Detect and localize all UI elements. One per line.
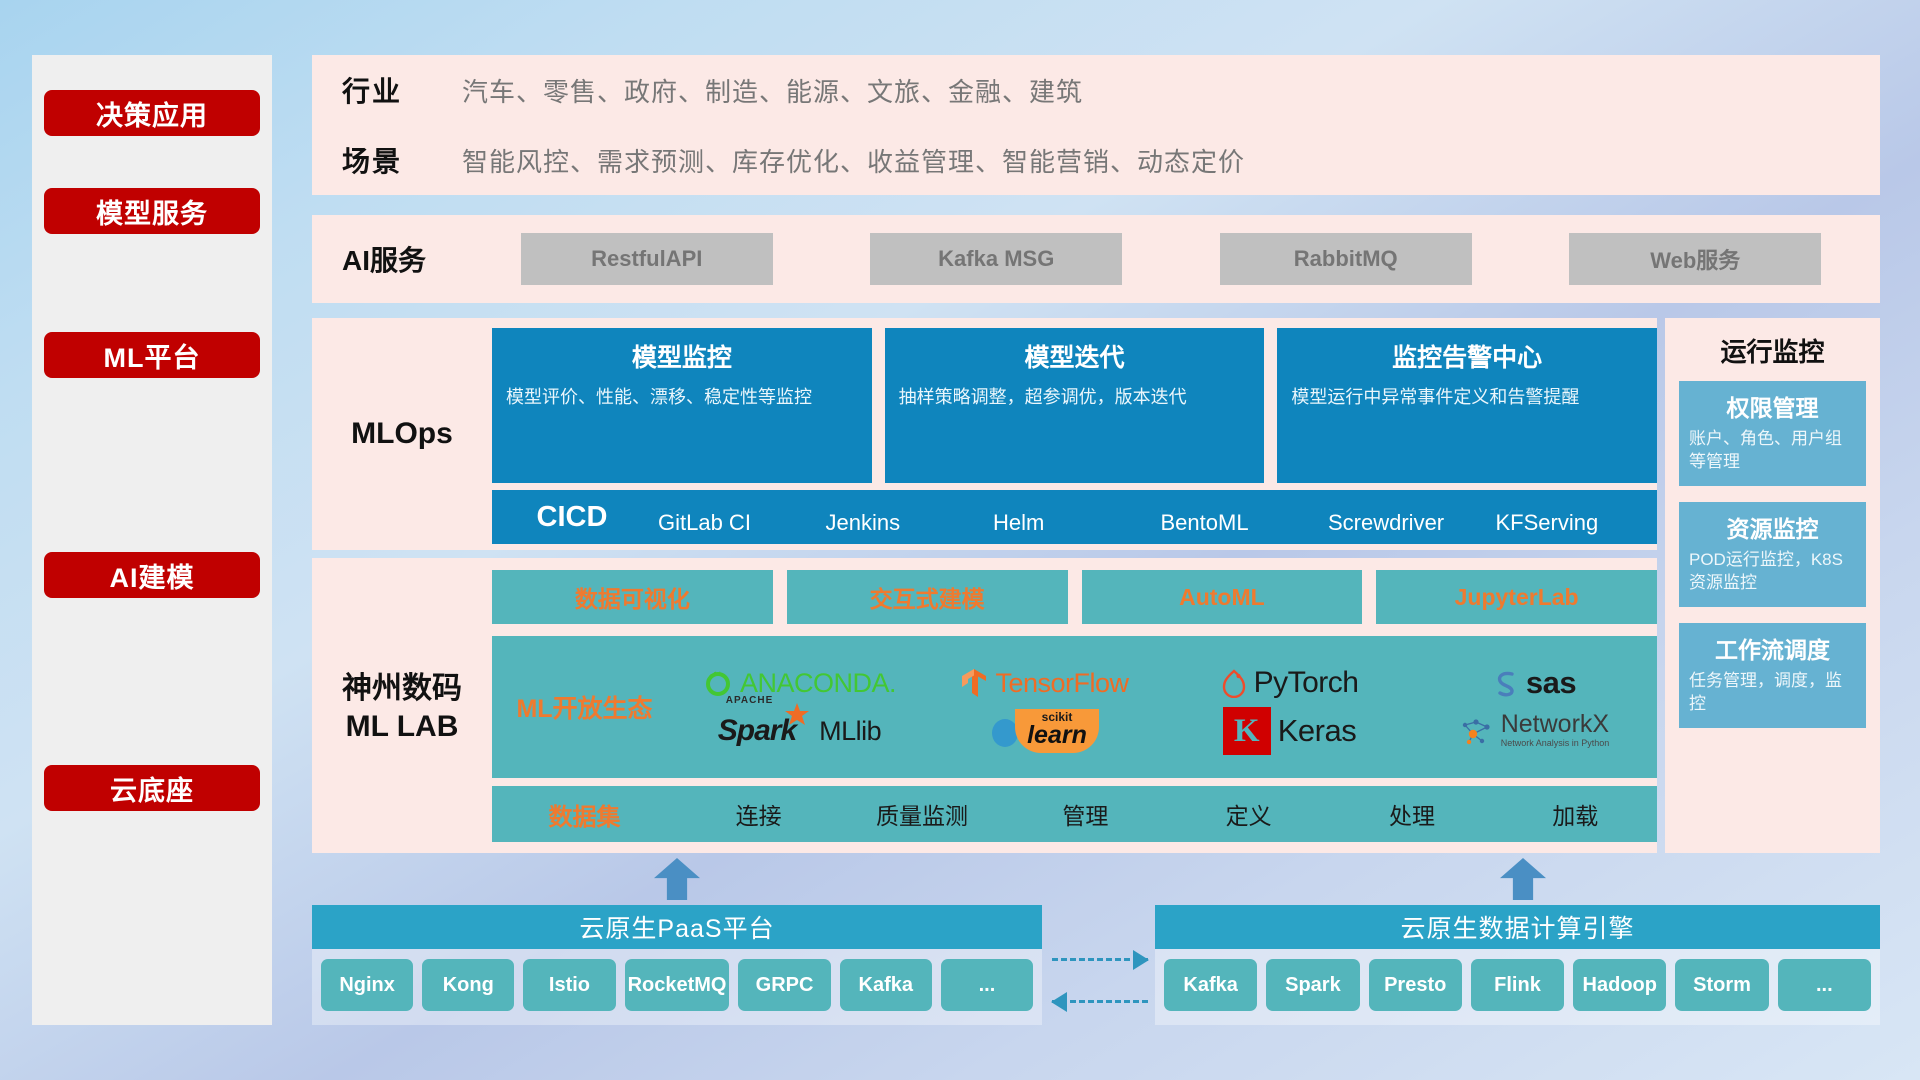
- paas-chip-nginx[interactable]: Nginx: [321, 959, 413, 1011]
- dataset-label: 数据集: [492, 797, 677, 832]
- dataset-item-manage[interactable]: 管理: [1004, 797, 1167, 831]
- arrow-up-paas-icon: [654, 858, 700, 900]
- dataset-item-define[interactable]: 定义: [1167, 797, 1330, 831]
- monitor-card-permissions[interactable]: 权限管理 账户、角色、用户组等管理: [1679, 381, 1866, 486]
- card-title: 模型监控: [506, 338, 858, 374]
- mlops-label: MLOps: [312, 318, 492, 550]
- ai-service-panel: AI服务 RestfulAPI Kafka MSG RabbitMQ Web服务: [312, 215, 1880, 303]
- compute-chip-flink[interactable]: Flink: [1471, 959, 1564, 1011]
- compute-chip-more[interactable]: ...: [1778, 959, 1871, 1011]
- paas-platform-box: 云原生PaaS平台 Nginx Kong Istio RocketMQ GRPC…: [312, 905, 1042, 1025]
- learn-text: learn: [1027, 723, 1087, 748]
- industry-scenario-panel: 行业 汽车、零售、政府、制造、能源、文旅、金融、建筑 场景 智能风控、需求预测、…: [312, 55, 1880, 195]
- card-title: 监控告警中心: [1291, 338, 1643, 374]
- stage-chip-ml-platform[interactable]: ML平台: [44, 332, 260, 378]
- dataset-item-load[interactable]: 加载: [1494, 797, 1657, 831]
- mlops-card-group: 模型监控 模型评价、性能、漂移、稳定性等监控 模型迭代 抽样策略调整，超参调优，…: [492, 328, 1657, 483]
- ml-lab-label: 神州数码 ML LAB: [312, 558, 492, 853]
- stage-chip-ai-modeling[interactable]: AI建模: [44, 552, 260, 598]
- cicd-item-kfserving[interactable]: KFServing: [1490, 511, 1658, 535]
- tab-jupyterlab[interactable]: JupyterLab: [1376, 570, 1657, 624]
- paas-chip-group: Nginx Kong Istio RocketMQ GRPC Kafka ...: [312, 949, 1042, 1021]
- compute-chip-storm[interactable]: Storm: [1675, 959, 1768, 1011]
- logo-networkx-subtitle: Network Analysis in Python: [1501, 737, 1610, 750]
- paas-chip-more[interactable]: ...: [941, 959, 1033, 1011]
- card-desc: 抽样策略调整，超参调优，版本迭代: [899, 384, 1251, 410]
- card-title: 工作流调度: [1689, 631, 1856, 665]
- stage-chip-cloud-base[interactable]: 云底座: [44, 765, 260, 811]
- compute-chip-presto[interactable]: Presto: [1369, 959, 1462, 1011]
- mlops-card-model-monitoring[interactable]: 模型监控 模型评价、性能、漂移、稳定性等监控: [492, 328, 872, 483]
- monitor-card-resources[interactable]: 资源监控 POD运行监控，K8S资源监控: [1679, 502, 1866, 607]
- mlops-card-alert-center[interactable]: 监控告警中心 模型运行中异常事件定义和告警提醒: [1277, 328, 1657, 483]
- paas-platform-title: 云原生PaaS平台: [312, 905, 1042, 949]
- keras-icon: K: [1223, 707, 1271, 755]
- cicd-item-helm[interactable]: Helm: [987, 511, 1155, 535]
- compute-chip-kafka[interactable]: Kafka: [1164, 959, 1257, 1011]
- paas-chip-kafka[interactable]: Kafka: [840, 959, 932, 1011]
- runtime-monitoring-title: 运行监控: [1665, 318, 1880, 381]
- card-title: 模型迭代: [899, 338, 1251, 374]
- logo-sas: sas: [1412, 665, 1657, 701]
- tensorflow-icon: [960, 667, 988, 699]
- card-desc: 模型运行中异常事件定义和告警提醒: [1291, 384, 1643, 410]
- paas-chip-kong[interactable]: Kong: [422, 959, 514, 1011]
- logo-pytorch: PyTorch: [1167, 666, 1412, 700]
- compute-chip-group: Kafka Spark Presto Flink Hadoop Storm ..…: [1155, 949, 1880, 1021]
- logo-mllib-text: MLlib: [819, 716, 881, 747]
- cicd-item-jenkins[interactable]: Jenkins: [820, 511, 988, 535]
- card-desc: 账户、角色、用户组等管理: [1689, 428, 1856, 474]
- scenario-values: 智能风控、需求预测、库存优化、收益管理、智能营销、动态定价: [462, 142, 1245, 179]
- cicd-item-gitlab-ci[interactable]: GitLab CI: [652, 511, 820, 535]
- compute-chip-spark[interactable]: Spark: [1266, 959, 1359, 1011]
- mlops-panel: MLOps 模型监控 模型评价、性能、漂移、稳定性等监控 模型迭代 抽样策略调整…: [312, 318, 1657, 550]
- arrow-up-compute-icon: [1500, 858, 1546, 900]
- logo-tensorflow: TensorFlow: [922, 667, 1167, 699]
- logo-anaconda: ANACONDA.: [677, 668, 922, 699]
- ml-lab-line1: 神州数码: [312, 670, 492, 708]
- data-compute-engine-box: 云原生数据计算引擎 Kafka Spark Presto Flink Hadoo…: [1155, 905, 1880, 1025]
- ml-ecosystem-row: ML开放生态 ANACONDA. TensorFlow: [492, 636, 1657, 778]
- card-title: 资源监控: [1689, 510, 1856, 544]
- logo-anaconda-text: ANACONDA.: [740, 668, 896, 699]
- cicd-bar: CICD GitLab CI Jenkins Helm BentoML Scre…: [492, 490, 1657, 544]
- ai-service-chip-group: RestfulAPI Kafka MSG RabbitMQ Web服务: [462, 233, 1880, 285]
- pytorch-icon: [1221, 668, 1247, 698]
- spark-apache-text: APACHE: [726, 695, 773, 706]
- ai-service-label: AI服务: [342, 239, 462, 279]
- dataset-item-group: 连接 质量监测 管理 定义 处理 加载: [677, 797, 1657, 831]
- stage-chip-decision[interactable]: 决策应用: [44, 90, 260, 136]
- card-desc: 任务管理，调度，监控: [1689, 670, 1856, 716]
- logo-tensorflow-text: TensorFlow: [995, 668, 1128, 699]
- dataset-item-connect[interactable]: 连接: [677, 797, 840, 831]
- ml-ecosystem-label: ML开放生态: [492, 689, 677, 725]
- ai-modeling-panel: 神州数码 ML LAB 数据可视化 交互式建模 AutoML JupyterLa…: [312, 558, 1657, 853]
- dashed-arrow-right-icon: [1052, 958, 1148, 961]
- cicd-item-bentoml[interactable]: BentoML: [1155, 511, 1323, 535]
- modeling-tab-group: 数据可视化 交互式建模 AutoML JupyterLab: [492, 570, 1657, 624]
- stage-rail: 决策应用 模型服务 ML平台 AI建模 云底座: [32, 55, 272, 1025]
- card-desc: 模型评价、性能、漂移、稳定性等监控: [506, 384, 858, 410]
- scenario-row: 场景 智能风控、需求预测、库存优化、收益管理、智能营销、动态定价: [312, 125, 1880, 195]
- scikit-learn-badge: scikit learn: [1015, 709, 1099, 753]
- logo-networkx: NetworkX Network Analysis in Python: [1412, 712, 1657, 750]
- cicd-title: CICD: [492, 501, 652, 534]
- networkx-icon: [1460, 716, 1494, 746]
- tab-interactive-modeling[interactable]: 交互式建模: [787, 570, 1068, 624]
- cicd-item-group: GitLab CI Jenkins Helm BentoML Screwdriv…: [652, 499, 1657, 535]
- architecture-diagram: 决策应用 模型服务 ML平台 AI建模 云底座 行业 汽车、零售、政府、制造、能…: [0, 0, 1920, 1080]
- logo-spark-mllib: APACHE Spark MLlib: [677, 714, 922, 748]
- tab-automl[interactable]: AutoML: [1082, 570, 1363, 624]
- dashed-arrow-left-icon: [1052, 1000, 1148, 1003]
- mlops-card-model-iteration[interactable]: 模型迭代 抽样策略调整，超参调优，版本迭代: [885, 328, 1265, 483]
- card-title: 权限管理: [1689, 389, 1856, 423]
- ai-chip-web-service[interactable]: Web服务: [1569, 233, 1821, 285]
- data-compute-engine-title: 云原生数据计算引擎: [1155, 905, 1880, 949]
- industry-row: 行业 汽车、零售、政府、制造、能源、文旅、金融、建筑: [312, 55, 1880, 125]
- logo-keras: K Keras: [1167, 707, 1412, 755]
- dataset-item-quality[interactable]: 质量监测: [840, 797, 1003, 831]
- stage-chip-model-service[interactable]: 模型服务: [44, 188, 260, 234]
- anaconda-icon: [703, 668, 733, 698]
- dataset-row: 数据集 连接 质量监测 管理 定义 处理 加载: [492, 786, 1657, 842]
- paas-chip-grpc[interactable]: GRPC: [738, 959, 830, 1011]
- cicd-item-screwdriver[interactable]: Screwdriver: [1322, 511, 1490, 535]
- spark-star-icon: [784, 702, 810, 728]
- scenario-label: 场景: [342, 140, 462, 180]
- runtime-monitoring-panel: 运行监控 权限管理 账户、角色、用户组等管理 资源监控 POD运行监控，K8S资…: [1665, 318, 1880, 853]
- ai-chip-restfulapi[interactable]: RestfulAPI: [521, 233, 773, 285]
- logo-networkx-text: NetworkX: [1501, 712, 1609, 737]
- ai-chip-rabbitmq[interactable]: RabbitMQ: [1220, 233, 1472, 285]
- ai-chip-kafka-msg[interactable]: Kafka MSG: [870, 233, 1122, 285]
- logo-pytorch-text: PyTorch: [1254, 666, 1359, 700]
- ml-ecosystem-logo-group: ANACONDA. TensorFlow PyTorch: [677, 659, 1657, 755]
- logo-keras-text: Keras: [1278, 713, 1356, 749]
- paas-chip-istio[interactable]: Istio: [523, 959, 615, 1011]
- industry-values: 汽车、零售、政府、制造、能源、文旅、金融、建筑: [462, 72, 1083, 109]
- monitor-card-workflow[interactable]: 工作流调度 任务管理，调度，监控: [1679, 623, 1866, 728]
- compute-chip-hadoop[interactable]: Hadoop: [1573, 959, 1666, 1011]
- sas-icon: [1493, 669, 1519, 697]
- dataset-item-process[interactable]: 处理: [1330, 797, 1493, 831]
- ml-lab-line2: ML LAB: [312, 708, 492, 746]
- logo-scikit-learn: scikit learn: [922, 709, 1167, 753]
- card-desc: POD运行监控，K8S资源监控: [1689, 549, 1856, 595]
- paas-chip-rocketmq[interactable]: RocketMQ: [625, 959, 730, 1011]
- industry-label: 行业: [342, 70, 462, 110]
- logo-sas-text: sas: [1526, 665, 1576, 701]
- tab-data-visualization[interactable]: 数据可视化: [492, 570, 773, 624]
